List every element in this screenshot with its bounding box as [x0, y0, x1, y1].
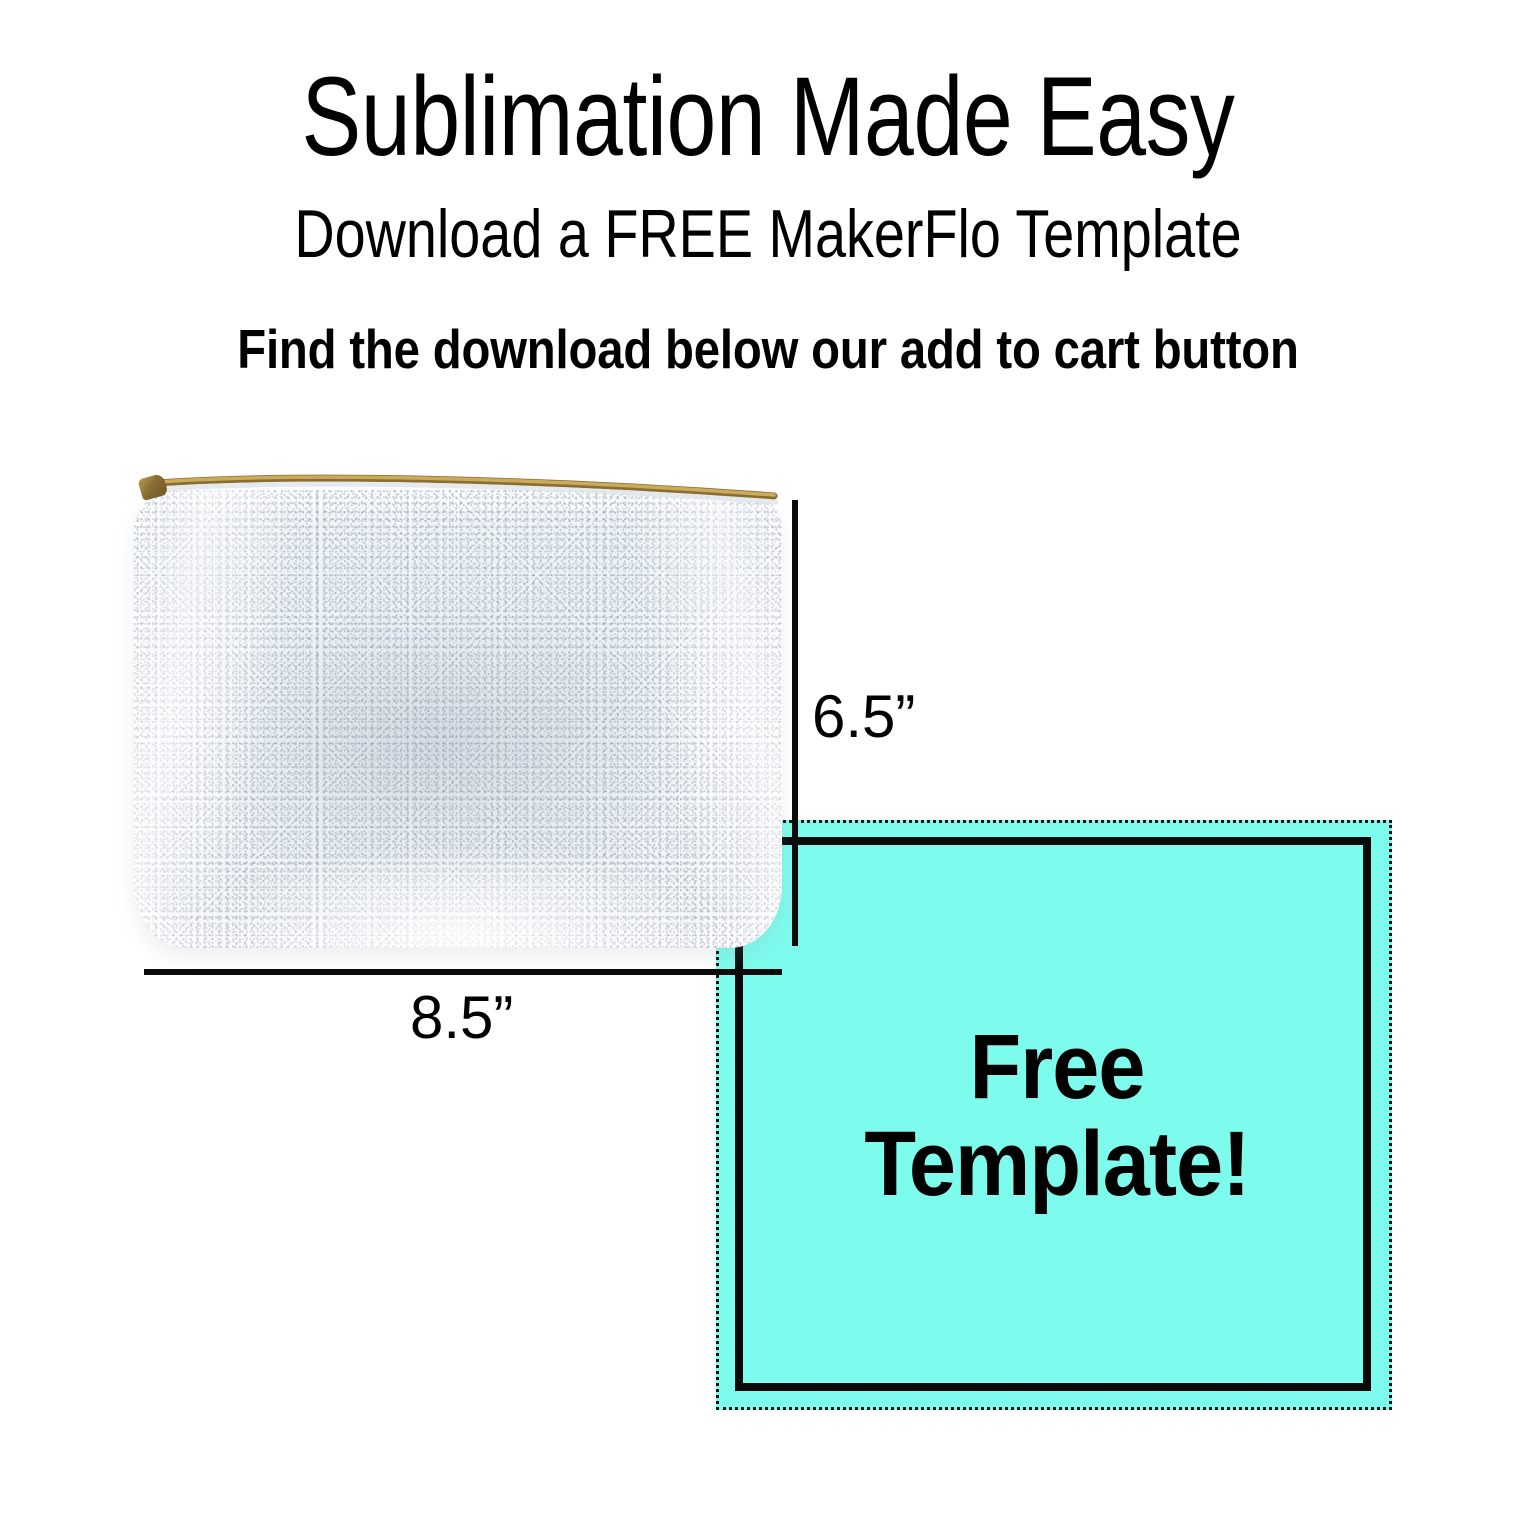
- height-dimension-line: [792, 500, 798, 946]
- free-template-label: Free Template!: [746, 1019, 1368, 1213]
- free-template-box: Free Template!: [716, 820, 1392, 1410]
- pouch-glitter-texture: [134, 490, 782, 948]
- zipper-icon: [138, 474, 778, 508]
- poster-canvas: Sublimation Made Easy Download a FREE Ma…: [0, 0, 1536, 1536]
- width-dimension-label: 8.5”: [410, 985, 513, 1051]
- product-image-glitter-pouch: [128, 462, 788, 952]
- width-dimension-line: [144, 969, 782, 975]
- page-title: Sublimation Made Easy: [154, 58, 1383, 176]
- page-subtitle: Download a FREE MakerFlo Template: [138, 196, 1398, 272]
- page-tagline: Find the download below our add to cart …: [108, 318, 1429, 380]
- height-dimension-label: 6.5”: [812, 684, 915, 750]
